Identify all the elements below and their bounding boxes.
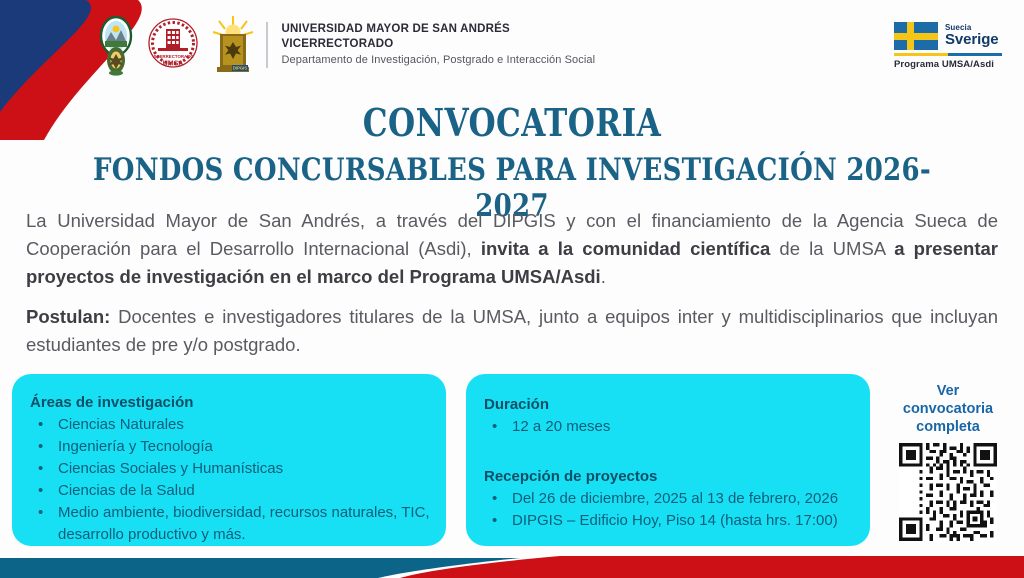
list-item: Medio ambiente, biodiversidad, recursos …: [12, 502, 446, 546]
institution-logos: VICERRECTORADO UMSA DIPGIS: [96, 14, 256, 76]
list-item: Ciencias Naturales: [12, 414, 446, 436]
bolivia-coat-of-arms-logo: [96, 14, 136, 76]
intro-text-bold-1: invita a la comunidad científica: [481, 238, 770, 259]
dipgis-emblem-logo: DIPGIS: [210, 15, 256, 75]
qr-section[interactable]: Ver convocatoria completa: [880, 382, 1016, 541]
duration-list: 12 a 20 meses: [466, 416, 870, 438]
list-item: Ingeniería y Tecnología: [12, 436, 446, 458]
research-areas-list: Ciencias Naturales Ingeniería y Tecnolog…: [12, 414, 446, 546]
intro-paragraph: La Universidad Mayor de San Andrés, a tr…: [26, 207, 998, 291]
box-spacer: [466, 438, 870, 468]
qr-code-icon[interactable]: [899, 443, 997, 541]
duration-and-submission-box: Duración 12 a 20 meses Recepción de proy…: [466, 374, 870, 546]
list-item: Ciencias de la Salud: [12, 480, 446, 502]
sweden-asdi-logo: Suecia Sverige Programa UMSA/Asdi: [894, 22, 1002, 70]
header-divider: [266, 22, 268, 68]
qr-label-line-2: convocatoria: [880, 400, 1016, 418]
research-areas-box: Áreas de investigación Ciencias Naturale…: [12, 374, 446, 546]
sweden-flag-icon: [894, 22, 938, 50]
poster-canvas: VICERRECTORADO UMSA DIPGIS: [0, 0, 1024, 578]
qr-label-line-3: completa: [880, 418, 1016, 436]
sweden-label-sv: Sverige: [945, 32, 999, 48]
page-title: CONVOCATORIA: [92, 100, 932, 145]
header-text: UNIVERSIDAD MAYOR DE SAN ANDRÉS VICERREC…: [282, 22, 596, 68]
svg-text:VICERRECTORADO: VICERRECTORADO: [152, 54, 194, 59]
programa-umsa-asdi-label: Programa UMSA/Asdi: [894, 59, 1002, 70]
umsa-vicerrectorado-seal-logo: VICERRECTORADO UMSA: [146, 17, 200, 73]
list-item: DIPGIS – Edificio Hoy, Piso 14 (hasta hr…: [466, 510, 870, 532]
sweden-accent-bars: [894, 53, 1002, 56]
header: VICERRECTORADO UMSA DIPGIS: [96, 14, 595, 76]
list-item: Del 26 de diciembre, 2025 al 13 de febre…: [466, 488, 870, 510]
intro-text-d: .: [601, 266, 606, 287]
submission-list: Del 26 de diciembre, 2025 al 13 de febre…: [466, 488, 870, 532]
applicants-label: Postulan:: [26, 306, 110, 327]
applicants-text: Docentes e investigadores titulares de l…: [26, 306, 998, 355]
title-block: CONVOCATORIA FONDOS CONCURSABLES PARA IN…: [0, 100, 1024, 224]
office-name: VICERRECTORADO: [282, 37, 596, 52]
list-item: Ciencias Sociales y Humanísticas: [12, 458, 446, 480]
research-areas-title: Áreas de investigación: [30, 394, 446, 411]
duration-title: Duración: [484, 396, 870, 413]
university-name: UNIVERSIDAD MAYOR DE SAN ANDRÉS: [282, 22, 596, 37]
svg-text:UMSA: UMSA: [163, 61, 184, 68]
applicants-paragraph: Postulan: Docentes e investigadores titu…: [26, 303, 998, 359]
svg-text:DIPGIS: DIPGIS: [233, 66, 247, 71]
qr-label-line-1: Ver: [880, 382, 1016, 400]
submission-title: Recepción de proyectos: [484, 468, 870, 485]
department-name: Departamento de Investigación, Postgrado…: [282, 53, 596, 68]
list-item: 12 a 20 meses: [466, 416, 870, 438]
intro-text-c: de la UMSA: [770, 238, 894, 259]
